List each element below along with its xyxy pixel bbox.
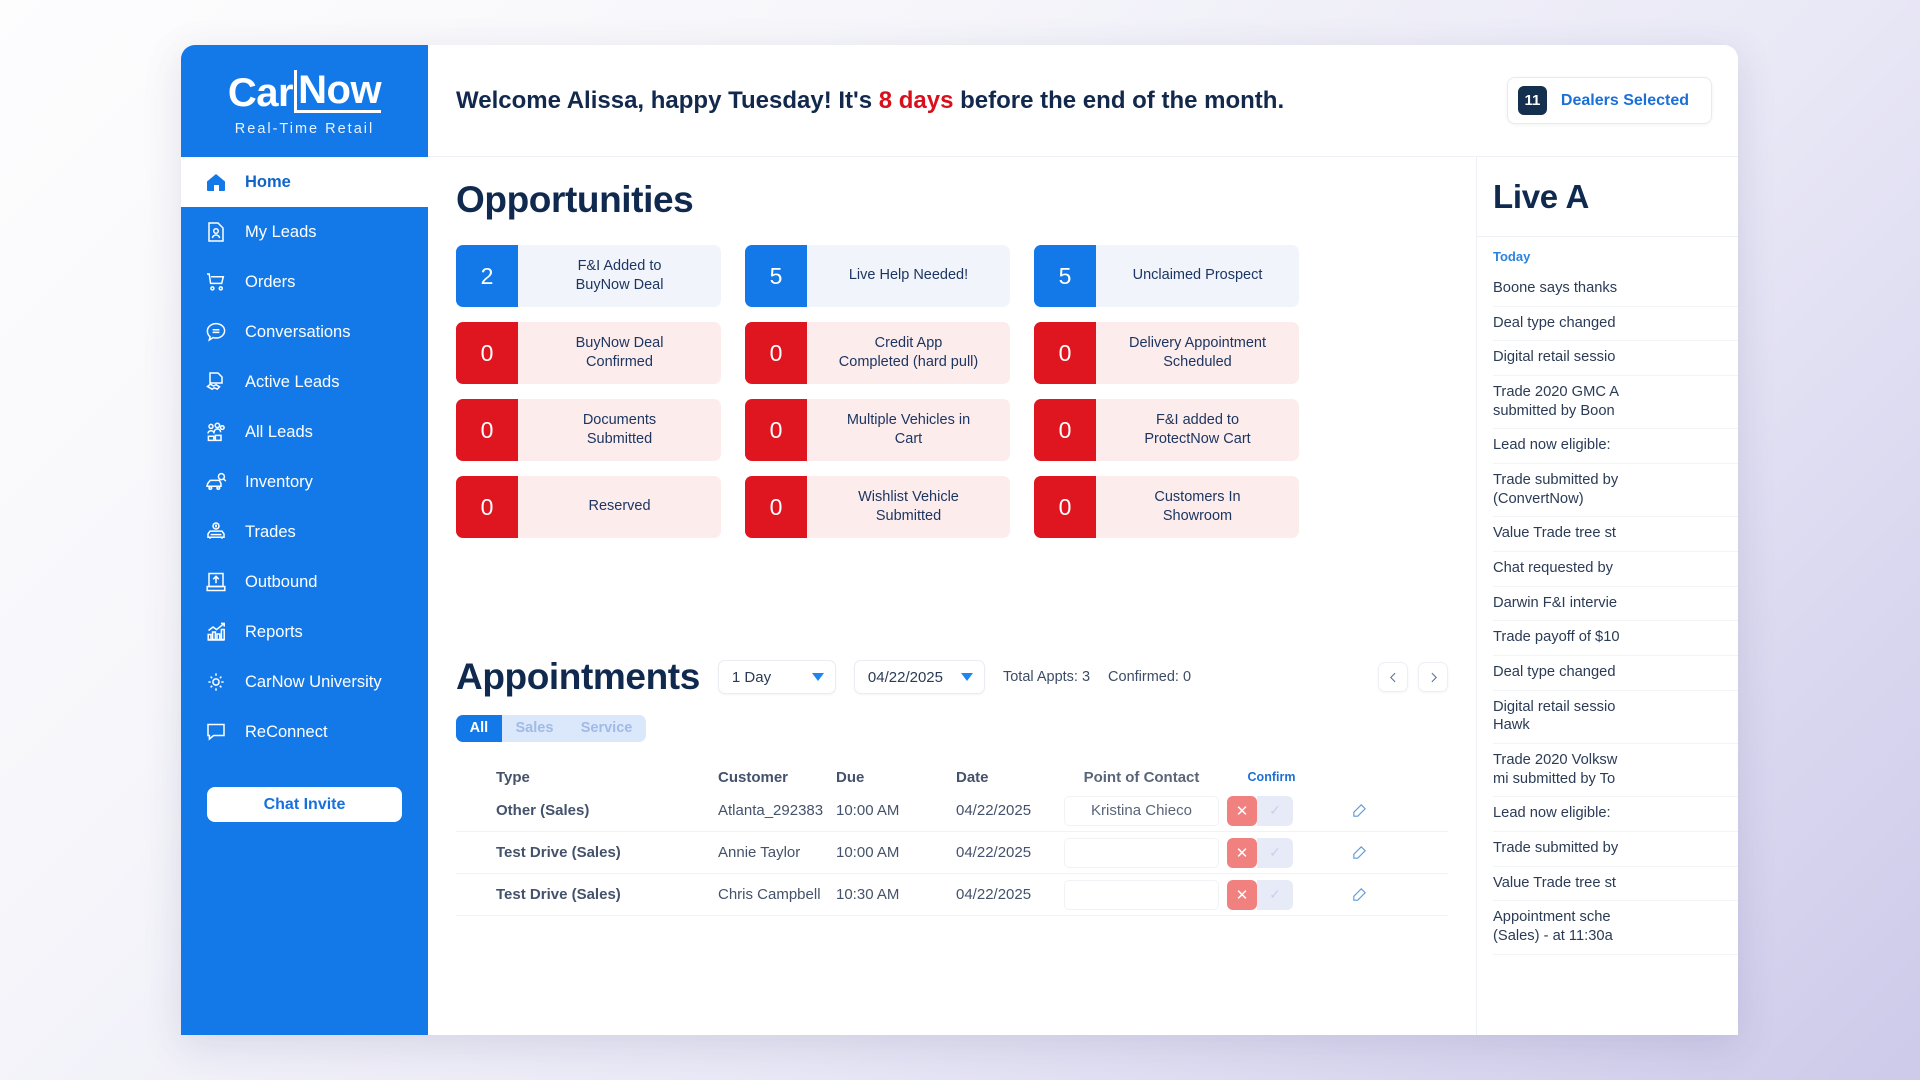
opportunity-tile-count: 2	[456, 245, 518, 307]
appointments-date-select[interactable]: 04/22/2025	[854, 660, 985, 694]
opportunity-tile-label: Credit App Completed (hard pull)	[807, 322, 1010, 384]
logo-tagline: Real-Time Retail	[235, 121, 374, 137]
activity-list-item[interactable]: Darwin F&I intervie	[1493, 587, 1738, 622]
live-activity-header: Live A	[1477, 157, 1738, 237]
dealers-selected-chip[interactable]: 11 Dealers Selected	[1507, 77, 1712, 124]
column-header-customer: Customer	[718, 769, 836, 786]
chevron-right-icon	[1427, 671, 1440, 684]
opportunity-tile[interactable]: 0Documents Submitted	[456, 399, 721, 461]
table-header-row: Type Customer Due Date Point of Contact …	[456, 764, 1448, 790]
appointment-confirm-group: ✕✓	[1219, 838, 1324, 868]
opportunity-tile-label: Customers In Showroom	[1096, 476, 1299, 538]
appointment-point-of-contact-field[interactable]	[1064, 880, 1219, 910]
sidebar-item-carnow-university[interactable]: CarNow University	[181, 657, 428, 707]
app-window: Car Now Real-Time Retail Home My Leads	[181, 45, 1738, 1035]
appointment-customer-cell: Annie Taylor	[718, 844, 836, 861]
sidebar-item-conversations[interactable]: Conversations	[181, 307, 428, 357]
chevron-down-icon	[961, 673, 973, 681]
appointments-range-select[interactable]: 1 Day	[718, 660, 836, 694]
opportunity-tile-count: 0	[456, 322, 518, 384]
appointment-type-cell: Test Drive (Sales)	[496, 886, 718, 903]
car-dollar-icon	[203, 519, 229, 545]
previous-page-button[interactable]	[1378, 662, 1408, 692]
opportunity-tile[interactable]: 0Credit App Completed (hard pull)	[745, 322, 1010, 384]
activity-list-item[interactable]: Appointment sche (Sales) - at 11:30a	[1493, 901, 1738, 954]
sidebar-item-inventory[interactable]: Inventory	[181, 457, 428, 507]
chevron-down-icon	[812, 673, 824, 681]
opportunity-tile-label: BuyNow Deal Confirmed	[518, 322, 721, 384]
column-header-confirm: Confirm	[1219, 770, 1324, 784]
appointments-type-filter: AllSalesService	[456, 715, 646, 742]
appointment-type-cell: Test Drive (Sales)	[496, 844, 718, 861]
edit-pencil-icon	[1351, 802, 1368, 819]
sidebar-item-label: Outbound	[245, 573, 317, 592]
logo-word-right: Now	[294, 70, 381, 113]
activity-list-item[interactable]: Chat requested by	[1493, 552, 1738, 587]
activity-list-item[interactable]: Lead now eligible:	[1493, 797, 1738, 832]
sidebar-nav-list: Home My Leads Orders Conve	[181, 157, 428, 757]
bar-chart-icon	[203, 619, 229, 645]
welcome-prefix: Welcome Alissa, happy Tuesday! It's	[456, 87, 879, 114]
opportunity-tile-count: 0	[745, 399, 807, 461]
confirm-appointment-button[interactable]: ✓	[1257, 880, 1293, 910]
reject-appointment-button[interactable]: ✕	[1227, 796, 1257, 826]
opportunity-tile[interactable]: 0Delivery Appointment Scheduled	[1034, 322, 1299, 384]
opportunity-tile-label: Reserved	[518, 476, 721, 538]
opportunity-tile[interactable]: 0BuyNow Deal Confirmed	[456, 322, 721, 384]
sidebar-item-reports[interactable]: Reports	[181, 607, 428, 657]
car-search-icon	[203, 469, 229, 495]
column-header-date: Date	[956, 769, 1064, 786]
opportunity-tile[interactable]: 5Live Help Needed!	[745, 245, 1010, 307]
appointment-date-cell: 04/22/2025	[956, 802, 1064, 819]
appointment-confirm-group: ✕✓	[1219, 880, 1324, 910]
chevron-left-icon	[1387, 671, 1400, 684]
sidebar-item-label: Inventory	[245, 473, 313, 492]
live-activity-panel: Live A Today Boone says thanksDeal type …	[1476, 157, 1738, 1035]
sidebar-item-label: Conversations	[245, 323, 350, 342]
activity-list-item[interactable]: Trade payoff of $10	[1493, 621, 1738, 656]
chat-bubble-icon	[203, 319, 229, 345]
opportunity-tile-label: Unclaimed Prospect	[1096, 245, 1299, 307]
sidebar-item-label: Home	[245, 173, 291, 192]
sidebar: Car Now Real-Time Retail Home My Leads	[181, 45, 428, 1035]
appointment-due-cell: 10:00 AM	[836, 844, 956, 861]
activity-list-item[interactable]: Deal type changed	[1493, 656, 1738, 691]
sidebar-item-label: Active Leads	[245, 373, 339, 392]
appointment-date-cell: 04/22/2025	[956, 886, 1064, 903]
sidebar-item-outbound[interactable]: Outbound	[181, 557, 428, 607]
appointment-due-cell: 10:30 AM	[836, 886, 956, 903]
contact-card-icon	[203, 219, 229, 245]
home-icon	[203, 169, 229, 195]
appointment-confirm-group: ✕✓	[1219, 796, 1324, 826]
column-header-point-of-contact: Point of Contact	[1064, 769, 1219, 786]
comment-dots-icon	[203, 719, 229, 745]
opportunity-tile[interactable]: 0Reserved	[456, 476, 721, 538]
appointments-pager	[1378, 662, 1448, 692]
appointment-due-cell: 10:00 AM	[836, 802, 956, 819]
sidebar-item-my-leads[interactable]: My Leads	[181, 207, 428, 257]
table-row[interactable]: Test Drive (Sales)Chris Campbell10:30 AM…	[456, 874, 1448, 916]
sidebar-item-trades[interactable]: Trades	[181, 507, 428, 557]
dealers-count-badge: 11	[1518, 86, 1547, 115]
activity-list-item[interactable]: Trade 2020 Volksw mi submitted by To	[1493, 744, 1738, 797]
handshake-document-icon	[203, 369, 229, 395]
activity-group-label: Today	[1493, 249, 1738, 264]
appointment-filter-all[interactable]: All	[456, 715, 502, 742]
edit-appointment-button[interactable]	[1324, 886, 1394, 903]
main-pane: Opportunities 2F&I Added to BuyNow Deal5…	[428, 157, 1738, 1035]
edit-appointment-button[interactable]	[1324, 844, 1394, 861]
appointments-range-value: 1 Day	[732, 669, 771, 686]
welcome-days-highlight: 8 days	[879, 87, 954, 114]
sidebar-item-home[interactable]: Home	[181, 157, 428, 207]
opportunity-tile-count: 0	[745, 476, 807, 538]
live-activity-list: Today Boone says thanksDeal type changed…	[1477, 237, 1738, 955]
sidebar-item-active-leads[interactable]: Active Leads	[181, 357, 428, 407]
activity-list-item[interactable]: Lead now eligible:	[1493, 429, 1738, 464]
opportunity-tile[interactable]: 0F&I added to ProtectNow Cart	[1034, 399, 1299, 461]
activity-list-item[interactable]: Trade 2020 GMC A submitted by Boon	[1493, 376, 1738, 429]
people-group-icon	[203, 419, 229, 445]
main-content: Opportunities 2F&I Added to BuyNow Deal5…	[428, 157, 1476, 1035]
appointments-title: Appointments	[456, 656, 700, 698]
shopping-cart-icon	[203, 269, 229, 295]
appointment-filter-sales[interactable]: Sales	[502, 715, 567, 742]
chat-invite-button[interactable]: Chat Invite	[207, 787, 402, 822]
activity-list-item[interactable]: Digital retail sessio Hawk	[1493, 691, 1738, 744]
sidebar-item-label: Reports	[245, 623, 303, 642]
welcome-message: Welcome Alissa, happy Tuesday! It's 8 da…	[456, 87, 1284, 115]
opportunity-tile-label: F&I Added to BuyNow Deal	[518, 245, 721, 307]
sidebar-item-label: Trades	[245, 523, 296, 542]
sidebar-item-label: CarNow University	[245, 673, 382, 692]
opportunity-tile-label: F&I added to ProtectNow Cart	[1096, 399, 1299, 461]
table-row[interactable]: Other (Sales)Atlanta_29238310:00 AM04/22…	[456, 790, 1448, 832]
sidebar-item-orders[interactable]: Orders	[181, 257, 428, 307]
activity-list-item[interactable]: Value Trade tree st	[1493, 517, 1738, 552]
appointment-filter-service[interactable]: Service	[567, 715, 646, 742]
top-bar: Welcome Alissa, happy Tuesday! It's 8 da…	[428, 45, 1738, 157]
table-row[interactable]: Test Drive (Sales)Annie Taylor10:00 AM04…	[456, 832, 1448, 874]
activity-list-item[interactable]: Value Trade tree st	[1493, 867, 1738, 902]
logo-wordmark: Car Now	[228, 70, 381, 113]
opportunity-tile-label: Live Help Needed!	[807, 245, 1010, 307]
appointment-customer-cell: Atlanta_292383	[718, 802, 836, 819]
opportunity-tile-count: 0	[1034, 476, 1096, 538]
total-appointments-stat: Total Appts: 3	[1003, 669, 1090, 685]
opportunity-tile-count: 0	[1034, 399, 1096, 461]
sidebar-item-label: ReConnect	[245, 723, 328, 742]
appointment-point-of-contact-field[interactable]: Kristina Chieco	[1064, 796, 1219, 826]
appointments-header: Appointments 1 Day 04/22/2025 Total Appt…	[456, 656, 1448, 698]
activity-items-container: Boone says thanksDeal type changedDigita…	[1493, 272, 1738, 955]
activity-list-item[interactable]: Trade submitted by	[1493, 832, 1738, 867]
reject-appointment-button[interactable]: ✕	[1227, 880, 1257, 910]
content-column: Welcome Alissa, happy Tuesday! It's 8 da…	[428, 45, 1738, 1035]
opportunity-tile-label: Delivery Appointment Scheduled	[1096, 322, 1299, 384]
app-logo[interactable]: Car Now Real-Time Retail	[181, 45, 428, 157]
edit-appointment-button[interactable]	[1324, 802, 1394, 819]
appointment-customer-cell: Chris Campbell	[718, 886, 836, 903]
opportunity-tile[interactable]: 0Wishlist Vehicle Submitted	[745, 476, 1010, 538]
opportunity-tile-label: Documents Submitted	[518, 399, 721, 461]
opportunity-tile-count: 0	[456, 399, 518, 461]
opportunity-tiles-grid: 2F&I Added to BuyNow Deal5Live Help Need…	[456, 245, 1448, 538]
page-title: Opportunities	[456, 179, 1448, 221]
opportunity-tile[interactable]: 0Customers In Showroom	[1034, 476, 1299, 538]
opportunity-tile-count: 5	[1034, 245, 1096, 307]
appointment-date-cell: 04/22/2025	[956, 844, 1064, 861]
sidebar-item-all-leads[interactable]: All Leads	[181, 407, 428, 457]
gear-icon	[203, 669, 229, 695]
opportunity-tile-count: 0	[745, 322, 807, 384]
table-body: Other (Sales)Atlanta_29238310:00 AM04/22…	[456, 790, 1448, 916]
reject-appointment-button[interactable]: ✕	[1227, 838, 1257, 868]
edit-pencil-icon	[1351, 844, 1368, 861]
welcome-suffix: before the end of the month.	[953, 87, 1284, 114]
sidebar-item-label: All Leads	[245, 423, 313, 442]
confirm-appointment-button[interactable]: ✓	[1257, 838, 1293, 868]
activity-list-item[interactable]: Trade submitted by (ConvertNow)	[1493, 464, 1738, 517]
sidebar-item-label: My Leads	[245, 223, 317, 242]
column-header-due: Due	[836, 769, 956, 786]
appointments-date-value: 04/22/2025	[868, 669, 943, 686]
opportunity-tile-count: 0	[1034, 322, 1096, 384]
logo-word-left: Car	[228, 73, 293, 113]
dealers-selected-label: Dealers Selected	[1561, 92, 1689, 110]
appointment-type-cell: Other (Sales)	[496, 802, 718, 819]
opportunity-tile[interactable]: 2F&I Added to BuyNow Deal	[456, 245, 721, 307]
opportunity-tile[interactable]: 5Unclaimed Prospect	[1034, 245, 1299, 307]
confirmed-appointments-stat: Confirmed: 0	[1108, 669, 1191, 685]
appointments-table: Type Customer Due Date Point of Contact …	[456, 764, 1448, 916]
confirm-appointment-button[interactable]: ✓	[1257, 796, 1293, 826]
opportunity-tile[interactable]: 0Multiple Vehicles in Cart	[745, 399, 1010, 461]
column-header-type: Type	[496, 769, 718, 786]
sidebar-item-reconnect[interactable]: ReConnect	[181, 707, 428, 757]
sidebar-item-label: Orders	[245, 273, 295, 292]
next-page-button[interactable]	[1418, 662, 1448, 692]
opportunity-tile-count: 5	[745, 245, 807, 307]
opportunity-tile-label: Wishlist Vehicle Submitted	[807, 476, 1010, 538]
opportunity-tile-count: 0	[456, 476, 518, 538]
chat-invite-container: Chat Invite	[181, 757, 428, 822]
upload-tray-icon	[203, 569, 229, 595]
activity-list-item[interactable]: Deal type changed	[1493, 307, 1738, 342]
activity-list-item[interactable]: Boone says thanks	[1493, 272, 1738, 307]
opportunity-tile-label: Multiple Vehicles in Cart	[807, 399, 1010, 461]
live-activity-title: Live A	[1493, 178, 1589, 216]
edit-pencil-icon	[1351, 886, 1368, 903]
activity-list-item[interactable]: Digital retail sessio	[1493, 341, 1738, 376]
appointment-point-of-contact-field[interactable]	[1064, 838, 1219, 868]
